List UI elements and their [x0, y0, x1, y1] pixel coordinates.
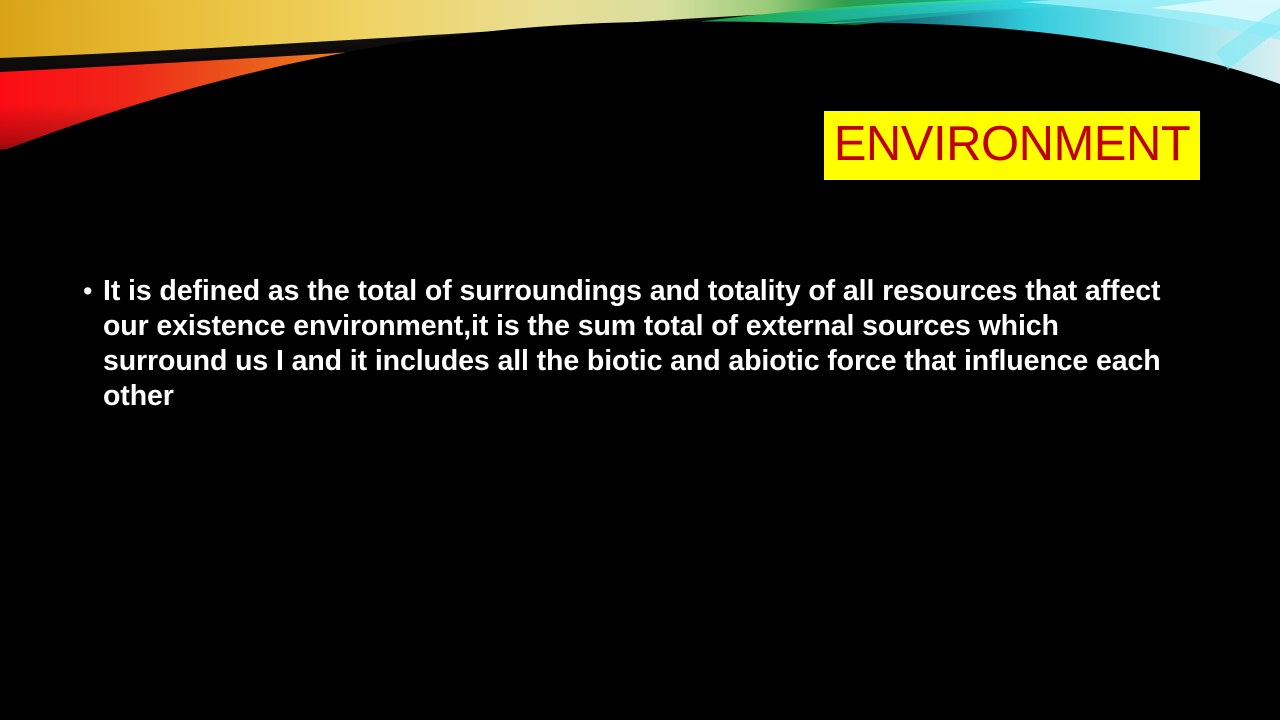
body-content: • It is defined as the total of surround… — [78, 274, 1193, 414]
list-item: • It is defined as the total of surround… — [78, 274, 1193, 414]
bullet-icon: • — [78, 274, 103, 309]
slide-canvas: ENVIRONMENT • It is defined as the total… — [0, 0, 1280, 720]
bullet-text: It is defined as the total of surroundin… — [103, 274, 1181, 414]
title-highlight-box: ENVIRONMENT — [824, 111, 1200, 180]
page-title: ENVIRONMENT — [834, 120, 1191, 169]
